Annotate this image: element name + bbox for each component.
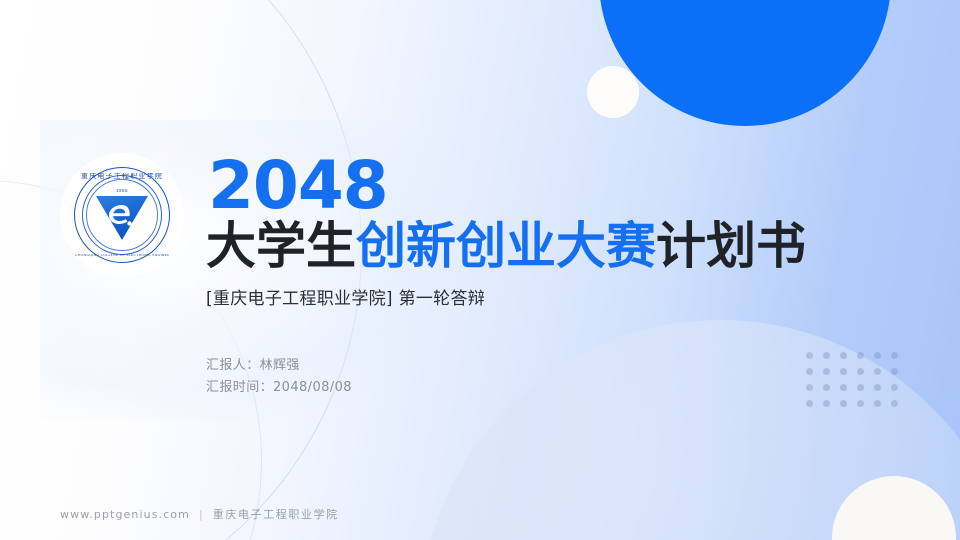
date-line: 汇报时间：2048/08/08	[206, 377, 866, 398]
logo-arc-text-chinese: 重庆电子工程职业学院	[75, 173, 169, 180]
presentation-meta: 汇报人：林辉强 汇报时间：2048/08/08	[206, 355, 866, 398]
title-part-1: 大学生	[206, 217, 356, 275]
logo-seal-ring: 重庆电子工程职业学院 1965 CHONGQING COLLEGE OF ELE…	[74, 167, 170, 263]
footer-website[interactable]: www.pptgenius.com	[60, 508, 190, 521]
footer-organization: 重庆电子工程职业学院	[213, 506, 339, 522]
university-logo: 重庆电子工程职业学院 1965 CHONGQING COLLEGE OF ELE…	[60, 153, 184, 277]
decorative-dot	[891, 400, 898, 407]
decorative-dot	[857, 400, 864, 407]
logo-arc-text-english: CHONGQING COLLEGE OF ELECTRONIC ENGINEER…	[75, 254, 169, 257]
footer: www.pptgenius.com | 重庆电子工程职业学院	[60, 506, 339, 522]
presenter-line: 汇报人：林辉强	[206, 355, 866, 376]
title-part-3: 计划书	[656, 217, 806, 275]
decorative-dot	[874, 384, 881, 391]
decorative-dot	[874, 368, 881, 375]
title-part-2-accent: 创新创业大赛	[356, 217, 656, 275]
decorative-dot	[874, 400, 881, 407]
decorative-dot	[891, 368, 898, 375]
decorative-dot	[840, 400, 847, 407]
presentation-title-slide: 重庆电子工程职业学院 1965 CHONGQING COLLEGE OF ELE…	[0, 0, 960, 540]
decorative-dot	[891, 384, 898, 391]
year-heading: 2048	[208, 155, 866, 218]
title-text-block: 2048 大学生创新创业大赛计划书 [重庆电子工程职业学院] 第一轮答辩 汇报人…	[206, 155, 866, 398]
decorative-dot	[806, 400, 813, 407]
decorative-dot	[874, 352, 881, 359]
logo-triangle-e-emblem	[94, 192, 150, 242]
subtitle: [重庆电子工程职业学院] 第一轮答辩	[206, 284, 866, 309]
decorative-dot	[823, 400, 830, 407]
footer-separator: |	[199, 508, 204, 521]
decorative-blue-circle	[599, 0, 891, 126]
decorative-dot	[891, 352, 898, 359]
page-title: 大学生创新创业大赛计划书	[206, 220, 866, 273]
decorative-white-dot	[587, 66, 639, 118]
